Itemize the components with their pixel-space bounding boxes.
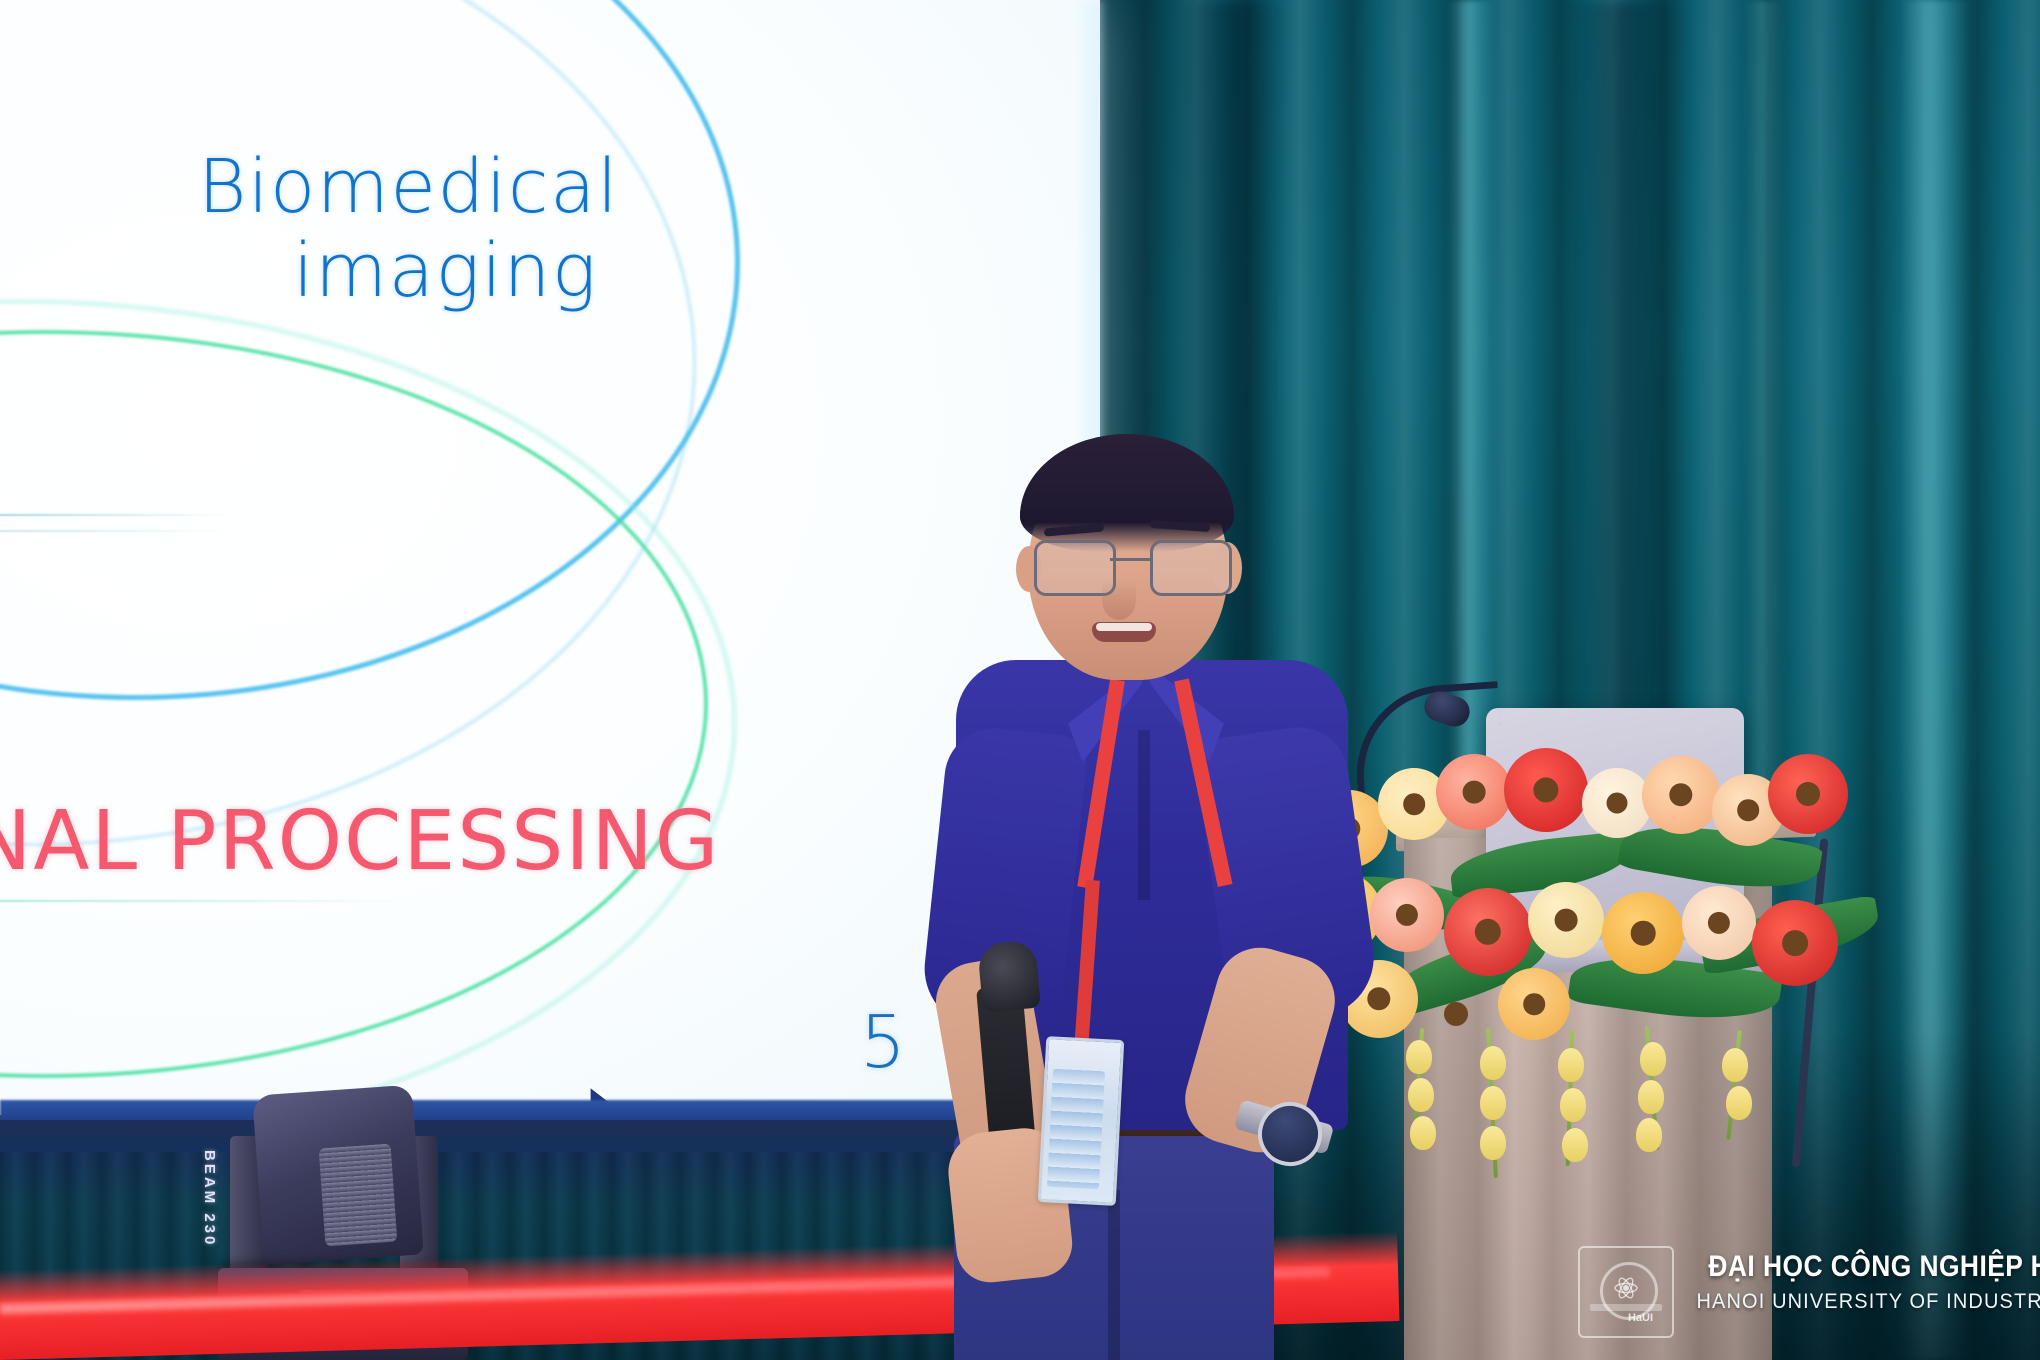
presentation-photo: Biomedical imaging NAL PROCESSING 5 BEAM…: [0, 0, 2040, 1360]
orchid-bloom: [1560, 1088, 1586, 1122]
orchid-bloom: [1726, 1086, 1752, 1120]
slide-hairline: [0, 900, 410, 902]
flower-rose-cream: [1528, 882, 1604, 958]
watermark-english: HANOI UNIVERSITY OF INDUSTRY: [1697, 1290, 2020, 1314]
flower-rose-peach: [1642, 756, 1720, 834]
orchid-bloom: [1408, 1078, 1434, 1112]
stage-light-model-label: BEAM 230: [196, 1150, 218, 1270]
orchid-bloom: [1480, 1126, 1506, 1160]
flower-gerbera-coral: [1370, 878, 1444, 952]
watermark: HaUI ĐẠI HỌC CÔNG NGHIỆP HÀ NỘI HANOI UN…: [1578, 1246, 2028, 1338]
speaker-presenter: [960, 430, 1340, 1360]
eyeglass-bridge: [1110, 558, 1152, 561]
orchid-bloom: [1640, 1042, 1666, 1076]
orchid-stem: [1726, 1030, 1741, 1140]
orchid-bloom: [1722, 1048, 1748, 1082]
orchid-bloom: [1562, 1128, 1588, 1162]
shirt-placket: [1138, 730, 1150, 900]
watermark-text: ĐẠI HỌC CÔNG NGHIỆP HÀ NỘI HANOI UNIVERS…: [1688, 1250, 2028, 1314]
eyeglass-lens-right: [1150, 540, 1232, 596]
orchid-bloom: [1558, 1048, 1584, 1082]
orchid-bloom: [1410, 1116, 1436, 1150]
handheld-microphone-grille: [977, 940, 1041, 1013]
flower-gerbera-red: [1752, 900, 1838, 986]
flower-rose-white: [1582, 768, 1652, 838]
slide-hairline: [0, 530, 230, 532]
haui-logo-abbrev: HaUI: [1628, 1312, 1653, 1324]
slide-section-heading: NAL PROCESSING: [0, 794, 720, 889]
floral-arrangement: [1320, 760, 1880, 1180]
orchid-bloom: [1480, 1086, 1506, 1120]
flower-gerbera-coral: [1436, 754, 1512, 830]
nose: [1102, 580, 1136, 620]
name-badge-card: [1047, 1069, 1105, 1190]
orchid-bloom: [1636, 1118, 1662, 1152]
watermark-vietnamese: ĐẠI HỌC CÔNG NGHIỆP HÀ NỘI: [1708, 1250, 2007, 1284]
slide-title-line-2: imaging: [293, 228, 598, 314]
flower-gerbera-red: [1768, 754, 1848, 834]
slide-title-line-1: Biomedical: [198, 144, 619, 230]
atom-icon: [1614, 1276, 1638, 1300]
teeth: [1096, 623, 1152, 631]
stage-light-lens: [319, 1144, 398, 1247]
orchid-bloom: [1480, 1046, 1506, 1080]
flower-gerbera-yellow: [1602, 892, 1684, 974]
orchid-bloom: [1406, 1040, 1432, 1074]
flower-gerbera-yellow: [1498, 968, 1570, 1040]
haui-logo-frame: HaUI: [1578, 1246, 1674, 1338]
screen-bottom-band: [0, 1100, 1100, 1122]
trouser-seam: [1108, 1190, 1120, 1360]
flower-gerbera-red: [1504, 748, 1588, 832]
flower-rose-peach: [1682, 886, 1756, 960]
flower-gerbera-red: [1444, 888, 1532, 976]
slide-page-number: 5: [860, 1000, 906, 1084]
slide-hairline: [0, 514, 230, 516]
orchid-bloom: [1638, 1080, 1664, 1114]
flower-rose-cream: [1416, 974, 1496, 1054]
haui-logo-banner: [1590, 1304, 1662, 1311]
